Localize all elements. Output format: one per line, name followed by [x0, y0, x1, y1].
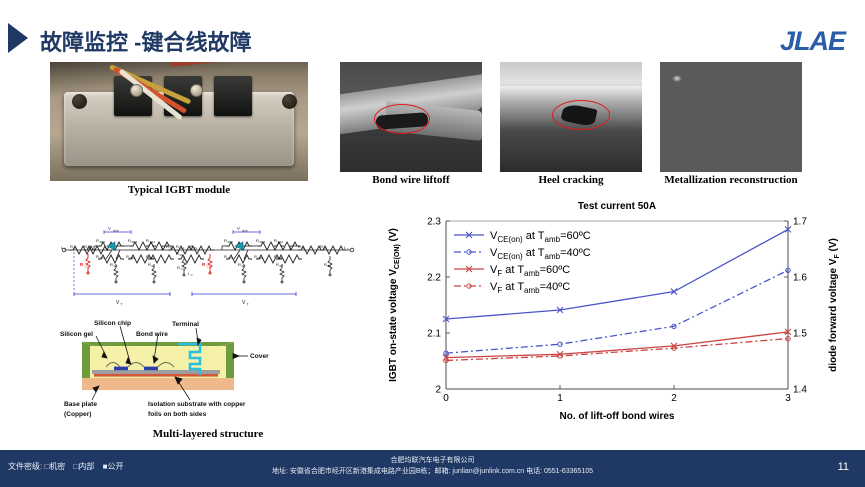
svg-text:R: R	[190, 244, 193, 249]
circuit-label-rc2: R	[202, 262, 206, 267]
svg-text:AA1: AA1	[150, 240, 156, 244]
svg-text:G2: G2	[242, 264, 246, 268]
x-tick-label: 3	[785, 393, 791, 404]
layer-label-isolation-substrate-2: foils on both sides	[148, 411, 207, 418]
svg-text:R: R	[176, 244, 179, 249]
svg-text:L2: L2	[324, 246, 328, 250]
svg-text:CC2: CC2	[228, 256, 234, 260]
svg-text:R: R	[320, 244, 323, 249]
svg-text:Ds: Ds	[302, 246, 306, 250]
svg-text:AA2: AA2	[278, 240, 284, 244]
layer-label-cover: Cover	[250, 353, 269, 360]
x-axis-label: No. of lift-off bond wires	[560, 411, 675, 422]
layer-label-isolation-substrate-1: Isolation substrate with copper	[148, 401, 246, 408]
svg-text:R: R	[128, 238, 131, 243]
svg-text:0: 0	[191, 273, 193, 277]
svg-text:V: V	[116, 300, 120, 306]
svg-text:R: R	[96, 238, 99, 243]
svg-text:R: R	[96, 254, 99, 259]
company-address: 地址: 安徽省合肥市经开区新港集成电路产业园B栋；邮箱: junlian@jun…	[0, 466, 865, 477]
module-chip-3	[214, 76, 252, 116]
svg-text:V: V	[108, 226, 111, 231]
x-tick-label: 2	[671, 393, 677, 404]
svg-text:R: R	[324, 262, 327, 267]
legend-item-label: VF at Tamb=60ºC	[490, 264, 570, 278]
dual-axis-line-chart: Test current 50A012322.12.22.31.41.51.61…	[374, 193, 854, 443]
page-title: 故障监控 -键合线故障	[40, 25, 251, 57]
layer-label-bond-wire: Bond wire	[136, 331, 168, 338]
terminal-screw-1	[130, 84, 143, 97]
layer-label-silicon-chip: Silicon chip	[94, 320, 131, 327]
y-tick-label-right: 1.6	[793, 273, 807, 284]
svg-text:Ds: Ds	[180, 253, 184, 257]
svg-text:CC1: CC1	[100, 256, 106, 260]
svg-text:L1: L1	[74, 246, 78, 250]
svg-text:diode forward voltage VF (V): diode forward voltage VF (V)	[828, 238, 841, 372]
chart-title: Test current 50A	[578, 201, 656, 212]
svg-text:R: R	[274, 238, 277, 243]
jlae-logo: JLAE	[780, 26, 845, 57]
svg-text:R: R	[254, 254, 257, 259]
lead-wire-brown	[170, 62, 240, 67]
svg-text:R: R	[166, 244, 169, 249]
svg-text:KK1: KK1	[100, 240, 106, 244]
y-axis-label-left: IGBT on-state voltage VCE(ON) (V)	[388, 228, 401, 382]
layer-label-silicon-gel: Silicon gel	[60, 331, 93, 338]
svg-text:C1: C1	[85, 264, 89, 268]
svg-text:R: R	[146, 238, 149, 243]
svg-text:R: R	[274, 254, 277, 259]
y-tick-label-left: 2.3	[427, 217, 441, 228]
svg-text:C2: C2	[207, 264, 211, 268]
legend-item-label: VCE(on) at Tamb=40ºC	[490, 247, 591, 261]
svg-text:V: V	[237, 226, 240, 231]
svg-text:R: R	[177, 265, 180, 270]
y-tick-label-right: 1.5	[793, 329, 807, 340]
page-number: 11	[838, 461, 849, 473]
terminal-screw-2	[190, 84, 203, 97]
svg-text:E2: E2	[280, 264, 284, 268]
chart-series	[443, 329, 791, 361]
y-tick-label-left: 2.1	[427, 329, 441, 340]
svg-text:R: R	[256, 238, 259, 243]
y-tick-label-right: 1.4	[793, 385, 807, 396]
svg-text:R: R	[148, 262, 151, 267]
legend-item-label: VCE(on) at Tamb=60ºC	[490, 230, 591, 244]
layer-label-terminal: Terminal	[172, 321, 199, 328]
annotation-red-circle	[552, 100, 610, 130]
company-name: 合肥均联汽车电子有限公司	[0, 455, 865, 466]
company-info: 合肥均联汽车电子有限公司 地址: 安徽省合肥市经开区新港集成电路产业园B栋；邮箱…	[0, 455, 865, 477]
layer-label-base-plate-copper: (Copper)	[64, 411, 91, 418]
legend-item-label: VF at Tamb=40ºC	[490, 281, 570, 295]
chart-legend: VCE(on) at Tamb=60ºCVCE(on) at Tamb=40ºC…	[454, 230, 591, 295]
svg-text:V: V	[242, 300, 246, 306]
caption-heel-cracking: Heel cracking	[500, 174, 642, 186]
y-tick-label-right: 1.7	[793, 217, 807, 228]
svg-text:EE2: EE2	[278, 256, 284, 260]
caption-typical-igbt-module: Typical IGBT module	[50, 184, 308, 196]
svg-text:R: R	[110, 262, 113, 267]
svg-text:R: R	[224, 254, 227, 259]
svg-text:R: R	[238, 262, 241, 267]
svg-text:R: R	[276, 262, 279, 267]
svg-text:Cs: Cs	[88, 246, 92, 250]
mounting-hole-left	[72, 94, 87, 109]
svg-text:T: T	[247, 302, 249, 306]
metallization-grain-texture	[660, 62, 802, 172]
svg-text:G1: G1	[114, 264, 118, 268]
y-tick-label-left: 2	[435, 385, 441, 396]
svg-text:E1: E1	[152, 264, 156, 268]
svg-text:R: R	[126, 254, 129, 259]
x-tick-label: 0	[443, 393, 449, 404]
svg-text:T: T	[121, 302, 123, 306]
caption-bond-wire-liftoff: Bond wire liftoff	[340, 174, 482, 186]
svg-text:R: R	[298, 244, 301, 249]
svg-text:Ds: Ds	[170, 246, 174, 250]
svg-text:L3: L3	[181, 267, 185, 271]
svg-text:R: R	[176, 251, 179, 256]
svg-text:ME1: ME1	[130, 256, 136, 260]
svg-text:R: R	[146, 254, 149, 259]
svg-text:L: L	[188, 272, 190, 276]
svg-text:EE1: EE1	[150, 256, 156, 260]
header-arrow-icon	[8, 21, 42, 55]
multi-layered-structure-diagram: Silicon chip Terminal Silicon gel Bond w…	[58, 312, 358, 424]
svg-text:chip: chip	[113, 228, 119, 232]
svg-text:KK2: KK2	[228, 240, 234, 244]
mounting-hole-right	[282, 94, 297, 109]
caption-metallization-reconstruction: Metallization reconstruction	[648, 174, 814, 186]
svg-text:chip: chip	[242, 228, 248, 232]
y-axis-label-right: diode forward voltage VF (V)	[828, 238, 841, 372]
svg-text:L12: L12	[180, 246, 185, 250]
equivalent-circuit-diagram: Vchip Vchip	[58, 222, 358, 310]
svg-text:MA1: MA1	[132, 240, 138, 244]
typical-igbt-module-photo	[50, 62, 308, 181]
bond-wire-liftoff-micrograph	[340, 62, 482, 172]
x-tick-label: 1	[557, 393, 563, 404]
slide-header: 故障监控 -键合线故障 JLAE	[0, 0, 865, 62]
heel-cracking-micrograph	[500, 62, 642, 172]
y-tick-label-left: 2.2	[427, 273, 441, 284]
slide-footer: 文件密级: □机密 □内部 ■公开 合肥均联汽车电子有限公司 地址: 安徽省合肥…	[0, 450, 865, 487]
metallization-reconstruction-micrograph	[660, 62, 802, 172]
annotation-red-circle	[374, 104, 430, 134]
svg-text:R: R	[84, 244, 87, 249]
svg-text:IGBT on-state voltage VCE(ON): IGBT on-state voltage VCE(ON) (V)	[388, 228, 401, 382]
svg-text:Ds: Ds	[194, 246, 198, 250]
svg-text:E3: E3	[328, 264, 332, 268]
svg-text:2: 2	[347, 247, 349, 251]
layer-label-base-plate: Base plate	[64, 401, 97, 408]
svg-text:R: R	[224, 238, 227, 243]
circuit-label-rc1: R	[80, 262, 84, 267]
svg-text:MA2: MA2	[260, 240, 266, 244]
caption-multi-layered-structure: Multi-layered structure	[58, 428, 358, 440]
svg-text:R: R	[70, 244, 73, 249]
svg-text:ME2: ME2	[258, 256, 264, 260]
